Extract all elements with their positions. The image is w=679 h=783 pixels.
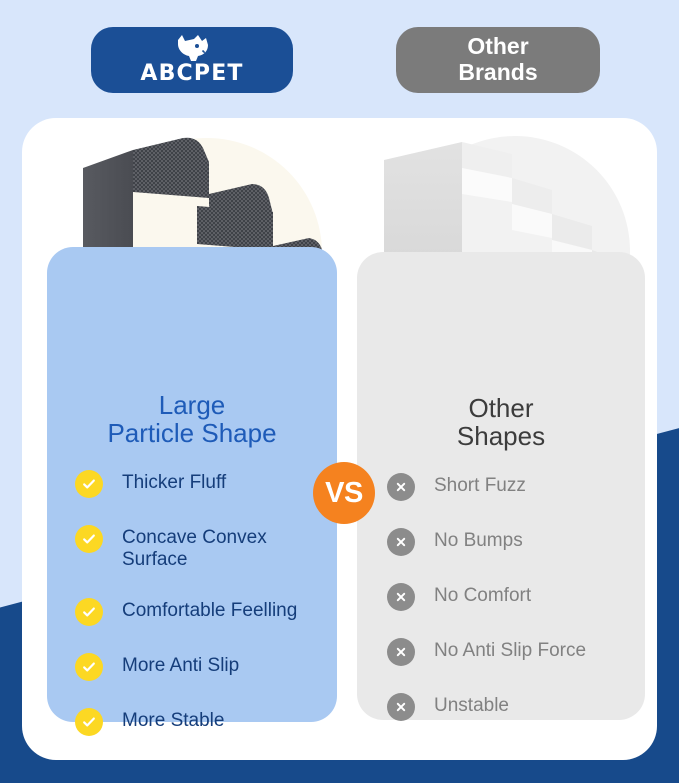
list-item-label: Short Fuzz xyxy=(434,472,526,497)
cross-icon xyxy=(387,473,415,501)
cross-icon xyxy=(387,583,415,611)
brand-name: ABCPET xyxy=(140,63,243,85)
cross-icon xyxy=(387,528,415,556)
left-feature-list: Thicker Fluff Concave Convex Surface Com… xyxy=(75,469,327,762)
list-item: Concave Convex Surface xyxy=(75,524,327,572)
list-item-label: Thicker Fluff xyxy=(122,469,226,494)
check-icon xyxy=(75,525,103,553)
brand-button-abcpet[interactable]: ABCPET xyxy=(91,27,293,93)
right-panel-title: OtherShapes xyxy=(357,395,645,451)
header: ABCPET OtherBrands xyxy=(0,0,679,118)
check-icon xyxy=(75,470,103,498)
right-comparison-panel: OtherShapes Short Fuzz No Bumps No Comfo… xyxy=(357,252,645,720)
right-feature-list: Short Fuzz No Bumps No Comfort No Anti S… xyxy=(387,472,635,747)
left-comparison-panel: LargeParticle Shape Thicker Fluff Concav… xyxy=(47,247,337,722)
list-item-label: Concave Convex Surface xyxy=(122,524,327,572)
other-brands-button[interactable]: OtherBrands xyxy=(396,27,600,93)
dog-head-icon xyxy=(172,35,212,61)
list-item-label: No Anti Slip Force xyxy=(434,637,586,662)
list-item: Unstable xyxy=(387,692,635,722)
check-icon xyxy=(75,653,103,681)
list-item-label: No Bumps xyxy=(434,527,523,552)
list-item: Thicker Fluff xyxy=(75,469,327,499)
list-item: Comfortable Feelling xyxy=(75,597,327,627)
list-item: More Stable xyxy=(75,707,327,737)
list-item: No Comfort xyxy=(387,582,635,612)
list-item-label: No Comfort xyxy=(434,582,531,607)
list-item: No Anti Slip Force xyxy=(387,637,635,667)
other-brands-label: OtherBrands xyxy=(458,34,537,86)
list-item-label: Comfortable Feelling xyxy=(122,597,297,622)
left-panel-title: LargeParticle Shape xyxy=(47,392,337,448)
list-item: More Anti Slip xyxy=(75,652,327,682)
vs-badge: VS xyxy=(313,462,375,524)
list-item-label: More Stable xyxy=(122,707,224,732)
cross-icon xyxy=(387,693,415,721)
check-icon xyxy=(75,708,103,736)
list-item: No Bumps xyxy=(387,527,635,557)
list-item: Short Fuzz xyxy=(387,472,635,502)
list-item-label: Unstable xyxy=(434,692,509,717)
check-icon xyxy=(75,598,103,626)
cross-icon xyxy=(387,638,415,666)
list-item-label: More Anti Slip xyxy=(122,652,239,677)
